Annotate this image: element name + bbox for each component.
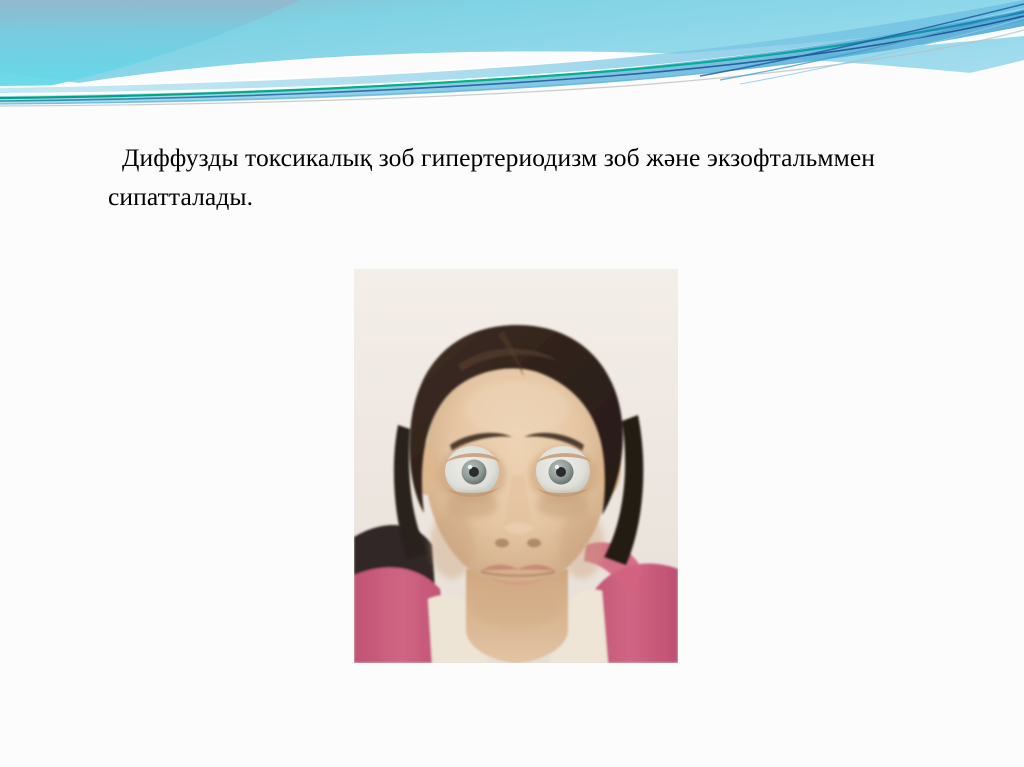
slide: Диффузды токсикалық зоб гипертериодизм з… [0, 0, 1024, 767]
wave-white-ribbon [0, 22, 1024, 96]
photo-grain-overlay [354, 269, 678, 663]
wave-upper-right-stroke-2 [720, 10, 1024, 80]
clinical-photo-exophthalmos [354, 269, 678, 663]
wave-blue-band-secondary [0, 0, 1024, 93]
wave-green-hairline [0, 12, 1024, 98]
wave-blue-band [0, 10, 1024, 104]
wave-upper-right-stroke-3 [740, 18, 1024, 84]
wave-white-sweep [0, 51, 1024, 112]
photo-graphic [354, 269, 678, 663]
wave-graphic [0, 0, 1024, 112]
wave-teal-left [0, 0, 300, 96]
wave-blue-hairline [0, 16, 1024, 101]
decorative-wave-banner [0, 0, 1024, 112]
wave-teal-base [0, 0, 1024, 112]
slide-body-text: Диффузды токсикалық зоб гипертериодизм з… [108, 138, 918, 216]
wave-lightblue-hairline [0, 22, 1024, 104]
wave-upper-right-stroke-1 [700, 4, 1024, 76]
wave-gray-hairline [0, 30, 1024, 106]
